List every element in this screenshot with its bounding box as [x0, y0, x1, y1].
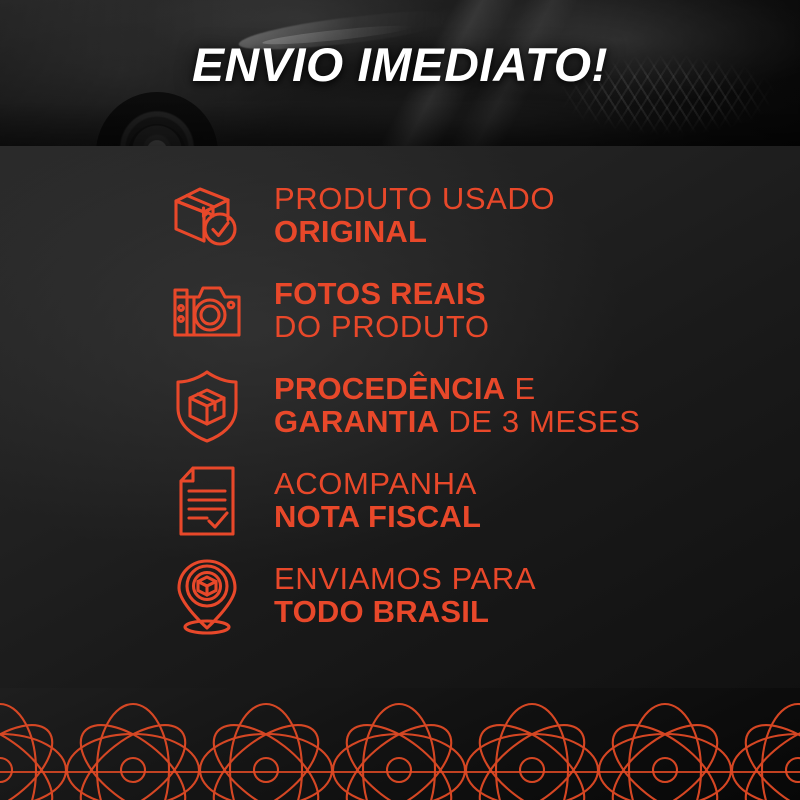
feature-line-2: TODO BRASIL — [274, 596, 536, 629]
invoice-document-check-icon — [168, 463, 246, 539]
shield-box-icon — [168, 368, 246, 444]
map-pin-box-icon — [168, 556, 246, 636]
feature-item-todo-brasil: ENVIAMOS PARA TODO BRASIL — [0, 548, 800, 643]
feature-item-produto-original: PRODUTO USADO ORIGINAL — [0, 168, 800, 263]
feature-line-2: NOTA FISCAL — [274, 501, 481, 534]
page-title: ENVIO IMEDIATO! — [0, 41, 800, 88]
feature-line-1: PRODUTO USADO — [274, 183, 555, 216]
promo-banner: ENVIO IMEDIATO! PRODUTO USADO ORIGIN — [0, 0, 800, 800]
feature-line-1: FOTOS REAIS — [274, 278, 490, 311]
feature-line-1-bold: PROCEDÊNCIA — [274, 371, 505, 406]
decorative-border-pattern — [0, 688, 800, 800]
feature-line-2: DO PRODUTO — [274, 311, 490, 344]
banner-header: ENVIO IMEDIATO! — [0, 0, 800, 146]
feature-line-2-light: DE 3 MESES — [439, 404, 640, 439]
feature-line-2: ORIGINAL — [274, 216, 555, 249]
feature-item-nota-fiscal: ACOMPANHA NOTA FISCAL — [0, 453, 800, 548]
feature-item-fotos-reais: FOTOS REAIS DO PRODUTO — [0, 263, 800, 358]
feature-line-2: GARANTIA DE 3 MESES — [274, 406, 640, 439]
package-box-check-icon — [168, 181, 246, 251]
feature-text: PROCEDÊNCIA E GARANTIA DE 3 MESES — [274, 373, 640, 439]
feature-list: PRODUTO USADO ORIGINAL — [0, 146, 800, 712]
feature-text: PRODUTO USADO ORIGINAL — [274, 183, 555, 249]
feature-line-1-light: E — [505, 371, 536, 406]
camera-icon — [168, 279, 246, 343]
feature-line-2-bold: GARANTIA — [274, 404, 439, 439]
feature-item-garantia: PROCEDÊNCIA E GARANTIA DE 3 MESES — [0, 358, 800, 453]
feature-line-1: PROCEDÊNCIA E — [274, 373, 640, 406]
feature-text: FOTOS REAIS DO PRODUTO — [274, 278, 490, 344]
feature-line-1: ACOMPANHA — [274, 468, 481, 501]
feature-line-1: ENVIAMOS PARA — [274, 563, 536, 596]
feature-text: ENVIAMOS PARA TODO BRASIL — [274, 563, 536, 629]
feature-text: ACOMPANHA NOTA FISCAL — [274, 468, 481, 534]
